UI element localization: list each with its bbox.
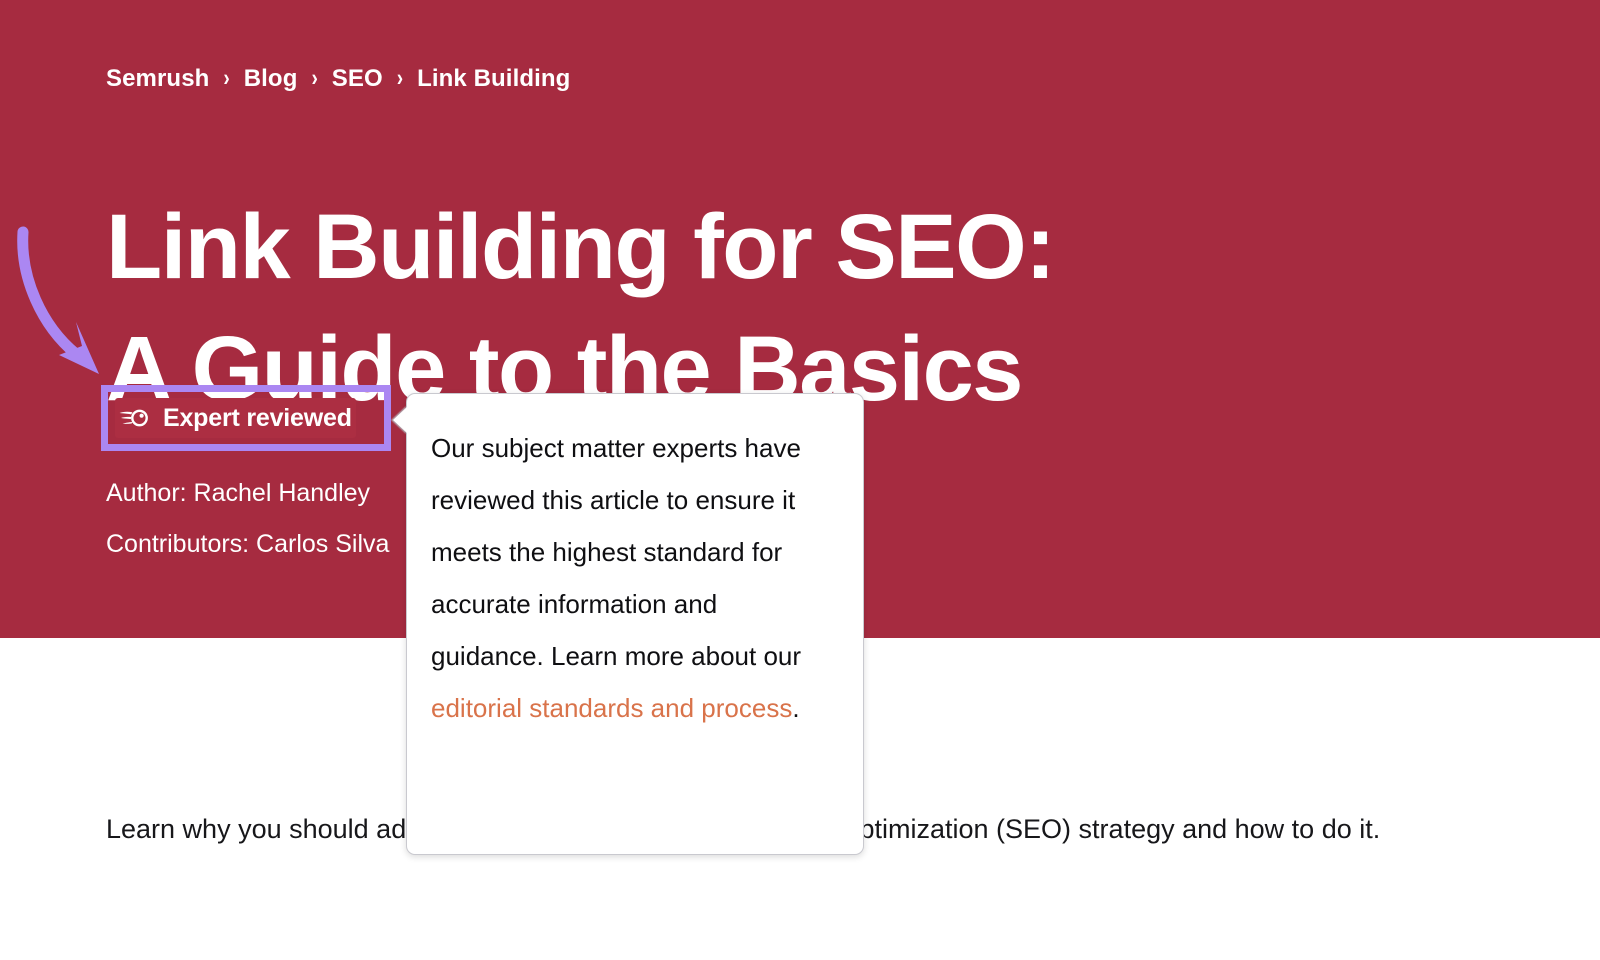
expert-reviewed-badge[interactable]: Expert reviewed [115, 398, 356, 438]
expert-reviewed-tooltip: Our subject matter experts have reviewed… [406, 393, 864, 855]
breadcrumb-separator-icon: › [223, 58, 229, 101]
tooltip-text-after-link: . [792, 693, 799, 723]
breadcrumb-item-blog[interactable]: Blog [244, 62, 298, 96]
breadcrumb: Semrush › Blog › SEO › Link Building [106, 62, 570, 96]
tooltip-text-before-link: Our subject matter experts have reviewed… [431, 433, 801, 671]
tooltip-pointer-icon [393, 406, 408, 434]
breadcrumb-separator-icon: › [311, 58, 317, 101]
tooltip-text: Our subject matter experts have reviewed… [431, 422, 835, 734]
page-title-line-1: Link Building for SEO: [106, 186, 1406, 308]
editorial-standards-link[interactable]: editorial standards and process [431, 693, 792, 723]
breadcrumb-separator-icon: › [397, 58, 403, 101]
breadcrumb-item-seo[interactable]: SEO [332, 62, 383, 96]
breadcrumb-item-link-building[interactable]: Link Building [417, 62, 570, 96]
article-page: Semrush › Blog › SEO › Link Building Lin… [0, 0, 1600, 960]
expert-reviewed-label: Expert reviewed [163, 403, 352, 433]
breadcrumb-item-semrush[interactable]: Semrush [106, 62, 209, 96]
semrush-comet-icon [119, 407, 149, 429]
